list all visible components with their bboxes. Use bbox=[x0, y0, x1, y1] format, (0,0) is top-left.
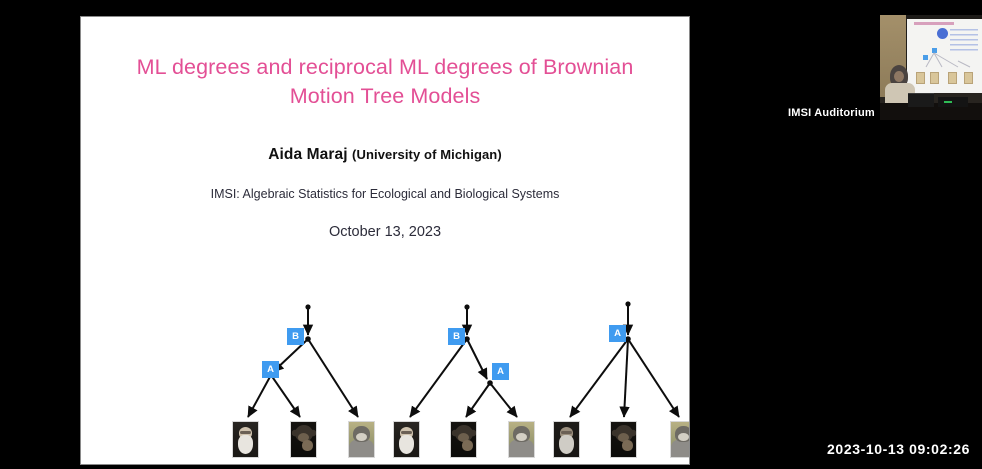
screen-recording-frame: ML degrees and reciprocal ML degrees of … bbox=[0, 0, 982, 469]
darwin-portrait-beard bbox=[559, 435, 574, 454]
recording-timestamp: 2023-10-13 09:02:26 bbox=[827, 441, 970, 457]
leaf-image-gorilla-tree-2 bbox=[508, 421, 535, 458]
leaf-image-chimpanzee-tree-1 bbox=[290, 421, 317, 458]
tree-3-edge-tag-a: A bbox=[609, 325, 626, 342]
projected-slide-tree-edges bbox=[918, 51, 978, 71]
projected-slide-title bbox=[914, 22, 954, 25]
tree-2-edge-tag-a: A bbox=[492, 363, 509, 380]
chimp-portrait-hand bbox=[302, 440, 313, 451]
darwin-portrait-beard bbox=[399, 435, 414, 454]
darwin-portrait-brow bbox=[561, 431, 572, 434]
slide-title-line-1: ML degrees and reciprocal ML degrees of … bbox=[81, 53, 689, 82]
presentation-slide[interactable]: ML degrees and reciprocal ML degrees of … bbox=[81, 17, 689, 464]
author-name: Aida Maraj bbox=[268, 146, 347, 163]
projected-slide-leaf-2 bbox=[930, 72, 939, 84]
leaf-image-darwin-tree-2 bbox=[393, 421, 420, 458]
author-affiliation: (University of Michigan) bbox=[352, 147, 502, 162]
darwin-portrait-brow bbox=[401, 431, 412, 434]
darwin-portrait-brow bbox=[240, 431, 251, 434]
projected-slide-leaf-4 bbox=[964, 72, 973, 84]
tree-1-edge-tag-a: A bbox=[262, 361, 279, 378]
brownian-motion-tree-figure: B A B A A bbox=[81, 279, 689, 464]
laptop-2 bbox=[938, 97, 968, 107]
speaker-face bbox=[894, 71, 904, 82]
slide-title-line-2: Motion Tree Models bbox=[81, 82, 689, 111]
projected-slide-bubble-icon bbox=[937, 28, 948, 39]
leaf-image-gorilla-tree-3 bbox=[670, 421, 689, 458]
projected-slide-leaf-1 bbox=[916, 72, 925, 84]
darwin-portrait-beard bbox=[238, 435, 253, 454]
slide-author: Aida Maraj (University of Michigan) bbox=[81, 146, 689, 164]
tree-2-edge-tag-b: B bbox=[448, 328, 465, 345]
speaker-video-feed[interactable] bbox=[880, 15, 982, 120]
tree-edges-svg bbox=[81, 279, 689, 464]
laptop-1 bbox=[908, 93, 934, 107]
gorilla-portrait-muzzle bbox=[356, 433, 367, 441]
projected-slide-text-lines bbox=[950, 29, 978, 51]
slide-venue: IMSI: Algebraic Statistics for Ecologica… bbox=[81, 187, 689, 201]
slide-title: ML degrees and reciprocal ML degrees of … bbox=[81, 53, 689, 111]
chimp-portrait-hand bbox=[462, 440, 473, 451]
device-indicator-led bbox=[944, 101, 952, 103]
leaf-image-darwin-tree-3 bbox=[553, 421, 580, 458]
video-source-label: IMSI Auditorium bbox=[788, 107, 875, 119]
chimp-portrait-hand bbox=[622, 440, 633, 451]
gorilla-portrait-muzzle bbox=[516, 433, 527, 441]
gorilla-portrait-muzzle bbox=[678, 433, 689, 441]
leaf-image-chimpanzee-tree-2 bbox=[450, 421, 477, 458]
tree-1-edge-tag-b: B bbox=[287, 328, 304, 345]
leaf-image-gorilla-tree-1 bbox=[348, 421, 375, 458]
projected-slide-leaf-3 bbox=[948, 72, 957, 84]
leaf-image-chimpanzee-tree-3 bbox=[610, 421, 637, 458]
leaf-image-darwin-tree-1 bbox=[232, 421, 259, 458]
slide-date: October 13, 2023 bbox=[81, 224, 689, 240]
